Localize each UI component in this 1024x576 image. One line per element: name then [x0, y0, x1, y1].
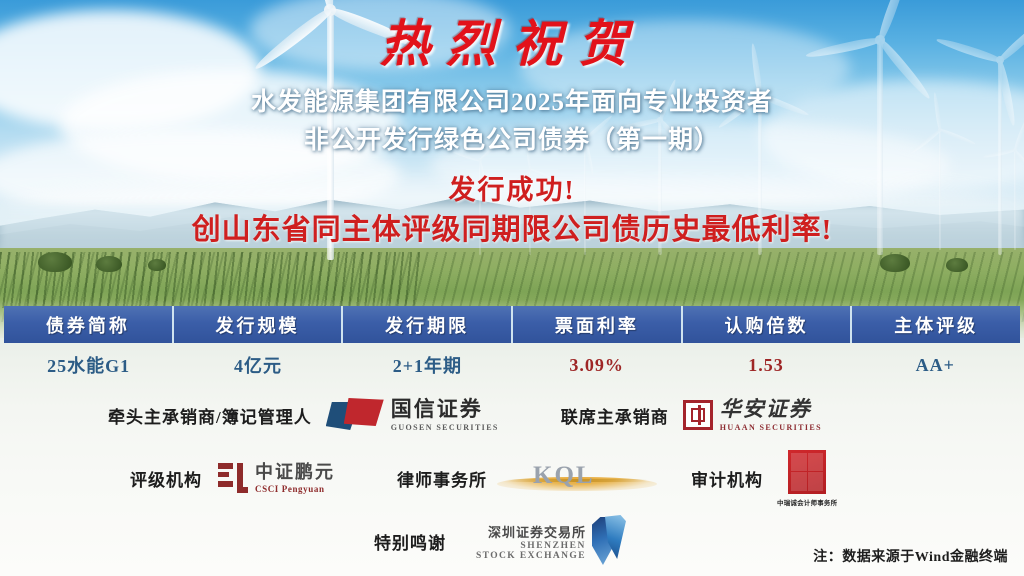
tree — [880, 254, 910, 272]
guosen-name-cn: 国信证券 — [391, 399, 499, 420]
bond-table-cell-1: 4亿元 — [173, 350, 342, 380]
issuance-success-text: 发行成功! — [0, 168, 1024, 207]
bond-table-header-cell-2: 发行期限 — [343, 306, 513, 343]
bond-table-cell-4: 1.53 — [681, 350, 850, 380]
bond-table-row: 25水能G14亿元2+1年期3.09%1.53AA+ — [4, 350, 1020, 380]
joint-underwriter-label: 联席主承销商 — [561, 403, 669, 428]
underwriter-row: 牵头主承销商/簿记管理人 国信证券 GUOSEN SECURITIES 联席主承… — [0, 390, 1024, 440]
huaan-seal-icon — [683, 400, 713, 430]
tree — [946, 258, 968, 272]
page-title: 热烈祝贺 — [0, 4, 1024, 76]
kql-swoosh-icon: KQL — [497, 460, 657, 496]
record-low-rate-text: 创山东省同主体评级同期限公司债历史最低利率! — [0, 206, 1024, 248]
intermediaries-row: 评级机构 中证鹏元 CSCI Pengyuan 律师事务所 KQL 审计机构 中… — [0, 450, 1024, 506]
tree — [38, 252, 72, 272]
szse-name-en-line2: STOCK EXCHANGE — [476, 551, 586, 561]
audit-agency-label: 审计机构 — [691, 466, 763, 491]
law-firm-mark: KQL — [533, 462, 595, 490]
huaan-name-en: HUAAN SECURITIES — [720, 424, 822, 432]
bond-table-header: 债券简称发行规模发行期限票面利率认购倍数主体评级 — [4, 306, 1020, 343]
huaan-securities-logo: 华安证券 HUAAN SECURITIES — [683, 399, 822, 432]
bond-table-header-cell-1: 发行规模 — [174, 306, 344, 343]
law-firm-label: 律师事务所 — [397, 466, 487, 491]
szse-logo: 深圳证券交易所 SHENZHEN STOCK EXCHANGE — [476, 517, 626, 565]
guosen-name-en: GUOSEN SECURITIES — [391, 424, 499, 432]
bond-table-header-cell-0: 债券简称 — [4, 306, 174, 343]
bond-table-cell-5: AA+ — [851, 350, 1020, 380]
csci-pengyuan-logo: 中证鹏元 CSCI Pengyuan — [218, 463, 335, 494]
guosen-ribbon-icon — [326, 398, 384, 432]
tree — [96, 256, 122, 272]
bond-table-header-cell-3: 票面利率 — [513, 306, 683, 343]
zhongruicheng-logo: 中瑞诚会计师事务所 — [777, 450, 837, 507]
csci-name-cn: 中证鹏元 — [255, 463, 335, 481]
special-thanks-label: 特别鸣谢 — [374, 529, 446, 554]
data-source-note: 注：数据来源于Wind金融终端 — [813, 546, 1008, 566]
szse-shield-icon — [592, 517, 626, 565]
csci-name-en: CSCI Pengyuan — [255, 485, 335, 494]
bond-table-cell-2: 2+1年期 — [343, 350, 512, 380]
bond-table-header-cell-5: 主体评级 — [852, 306, 1020, 343]
bond-subtitle-line2: 非公开发行绿色公司债券（第一期） — [0, 122, 1024, 160]
szse-name-cn: 深圳证券交易所 — [488, 522, 586, 541]
congratulation-poster: 热烈祝贺 水发能源集团有限公司2025年面向专业投资者 非公开发行绿色公司债券（… — [0, 0, 1024, 576]
szse-name-en-line1: SHENZHEN — [520, 541, 586, 551]
rating-agency-label: 评级机构 — [130, 466, 202, 491]
lead-underwriter-label: 牵头主承销商/簿记管理人 — [108, 403, 312, 428]
bond-table-cell-0: 25水能G1 — [4, 350, 173, 380]
bond-table-header-cell-4: 认购倍数 — [683, 306, 853, 343]
tree — [148, 259, 166, 271]
bond-table-cell-3: 3.09% — [512, 350, 681, 380]
audit-firm-caption: 中瑞诚会计师事务所 — [777, 497, 837, 507]
red-seal-icon — [788, 450, 826, 494]
csci-bracket-icon — [218, 463, 248, 493]
huaan-name-cn: 华安证券 — [720, 399, 822, 420]
guosen-securities-logo: 国信证券 GUOSEN SECURITIES — [326, 398, 499, 432]
bond-subtitle: 水发能源集团有限公司2025年面向专业投资者 非公开发行绿色公司债券（第一期） — [0, 84, 1024, 160]
bond-subtitle-line1: 水发能源集团有限公司2025年面向专业投资者 — [0, 84, 1024, 122]
